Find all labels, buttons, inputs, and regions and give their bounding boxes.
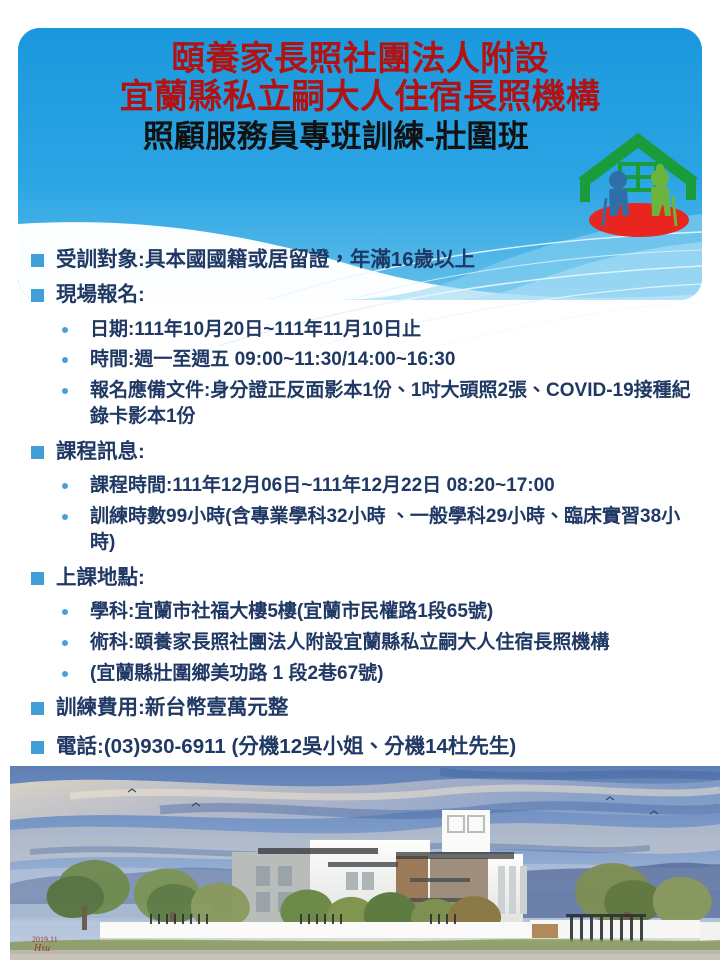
facility-watercolor-painting-image: 2019.11 Hsu	[10, 766, 720, 960]
list-item-text: 日期:111年10月20日~111年11月10日止	[90, 319, 421, 340]
list-item: 報名應備文件:身分證正反面影本1份、1吋大頭照2張、COVID-19接種紀錄卡影…	[0, 378, 720, 430]
list-item: 課程時間:111年12月06日~111年12月22日 08:20~17:00	[0, 473, 720, 499]
section-heading-onsite-registration: 現場報名:	[0, 281, 720, 309]
list-item: 學科:宜蘭市社福大樓5樓(宜蘭市民權路1段65號)	[0, 599, 720, 625]
square-bullet-icon	[31, 702, 44, 715]
section-heading-eligibility: 受訓對象:具本國國籍或居留證，年滿16歲以上	[0, 246, 720, 274]
dot-bullet-icon	[62, 671, 68, 677]
elderly-care-house-logo-icon	[572, 128, 706, 240]
list-item-text: 課程時間:111年12月06日~111年12月22日 08:20~17:00	[90, 475, 555, 496]
svg-text:Hsu: Hsu	[33, 943, 50, 954]
square-bullet-icon	[31, 289, 44, 302]
list-item-text: 訓練時數99小時(含專業學科32小時 、一般學科29小時、臨床實習38小時)	[90, 506, 680, 553]
section-heading-text: 電話:(03)930-6911 (分機12吳小姐、分機14杜先生)	[56, 735, 516, 758]
section-heading-text: 訓練費用:新台幣壹萬元整	[56, 696, 288, 719]
dot-bullet-icon	[62, 483, 68, 489]
dot-bullet-icon	[62, 640, 68, 646]
list-item-text: 術科:頤養家長照社團法人附設宜蘭縣私立嗣大人住宿長照機構	[90, 632, 609, 653]
list-item-text: 學科:宜蘭市社福大樓5樓(宜蘭市民權路1段65號)	[90, 601, 493, 622]
square-bullet-icon	[31, 741, 44, 754]
section-heading-venue: 上課地點:	[0, 564, 720, 592]
list-item: 時間:週一至週五 09:00~11:30/14:00~16:30	[0, 347, 720, 373]
section-heading-text: 受訓對象:具本國國籍或居留證，年滿16歲以上	[56, 248, 475, 271]
facility-photo: 2019.11 Hsu	[10, 766, 720, 960]
list-item: (宜蘭縣壯圍鄉美功路 1 段2巷67號)	[0, 661, 720, 687]
poster-root: 頤養家長照社團法人附設 宜蘭縣私立嗣大人住宿長照機構 照顧服務員專班訓練-壯圍班…	[0, 0, 720, 960]
section-heading-tuition-fee: 訓練費用:新台幣壹萬元整	[0, 694, 720, 722]
list-item-text: (宜蘭縣壯圍鄉美功路 1 段2巷67號)	[90, 663, 383, 684]
dot-bullet-icon	[62, 388, 68, 394]
section-heading-phone: 電話:(03)930-6911 (分機12吳小姐、分機14杜先生)	[0, 733, 720, 761]
list-item-text: 時間:週一至週五 09:00~11:30/14:00~16:30	[90, 349, 455, 370]
dot-bullet-icon	[62, 327, 68, 333]
section-heading-text: 現場報名:	[56, 283, 145, 306]
dot-bullet-icon	[62, 514, 68, 520]
section-heading-course-info: 課程訊息:	[0, 438, 720, 466]
square-bullet-icon	[31, 254, 44, 267]
list-item: 訓練時數99小時(含專業學科32小時 、一般學科29小時、臨床實習38小時)	[0, 504, 720, 556]
list-item: 日期:111年10月20日~111年11月10日止	[0, 317, 720, 343]
dot-bullet-icon	[62, 609, 68, 615]
square-bullet-icon	[31, 446, 44, 459]
dot-bullet-icon	[62, 357, 68, 363]
section-heading-text: 課程訊息:	[56, 440, 145, 463]
square-bullet-icon	[31, 572, 44, 585]
content-list: 受訓對象:具本國國籍或居留證，年滿16歲以上 現場報名: 日期:111年10月2…	[0, 246, 720, 768]
list-item-text: 報名應備文件:身分證正反面影本1份、1吋大頭照2張、COVID-19接種紀錄卡影…	[90, 380, 691, 427]
section-heading-text: 上課地點:	[56, 566, 145, 589]
list-item: 術科:頤養家長照社團法人附設宜蘭縣私立嗣大人住宿長照機構	[0, 630, 720, 656]
